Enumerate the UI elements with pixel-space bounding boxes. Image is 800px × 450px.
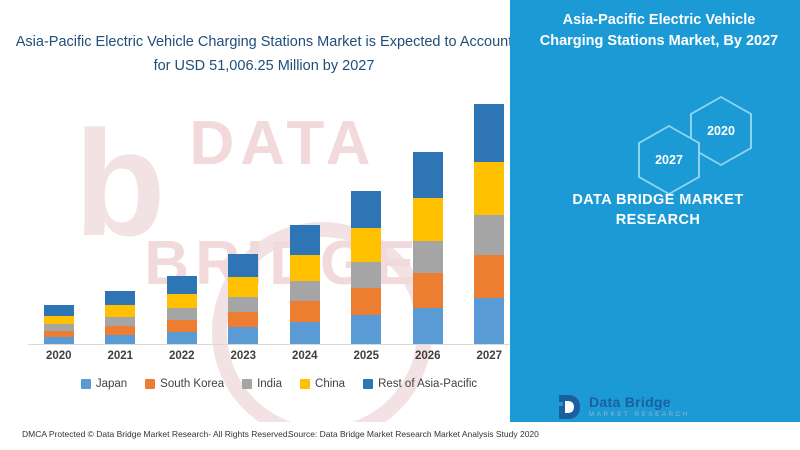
bar-segment — [290, 225, 320, 255]
bar-segment — [474, 298, 504, 344]
bar-segment — [290, 322, 320, 344]
bar-column — [351, 191, 381, 344]
legend-item[interactable]: China — [300, 378, 345, 390]
bar-segment — [413, 308, 443, 344]
hexagon-2020-label: 2020 — [690, 124, 752, 138]
x-axis-label: 2021 — [90, 350, 150, 362]
chart-infographic: b DATA BRIDGE Asia-Pacific Electric Vehi… — [0, 0, 800, 450]
side-panel: Asia-Pacific Electric Vehicle Charging S… — [510, 0, 800, 422]
bar-segment — [167, 320, 197, 332]
legend-label: Rest of Asia-Pacific — [378, 378, 477, 390]
brand-mark-icon — [556, 393, 582, 421]
legend-swatch — [242, 379, 252, 389]
legend-item[interactable]: South Korea — [145, 378, 224, 390]
bar-column — [167, 276, 197, 344]
plot-area — [28, 104, 520, 344]
legend-swatch — [363, 379, 373, 389]
chart-legend: JapanSouth KoreaIndiaChinaRest of Asia-P… — [34, 378, 524, 390]
brand-logo-text: Data Bridge MARKET RESEARCH — [589, 395, 690, 419]
bar-segment — [44, 316, 74, 324]
legend-swatch — [300, 379, 310, 389]
bar-segment — [105, 305, 135, 317]
footer: DMCA Protected © Data Bridge Market Rese… — [0, 422, 800, 450]
bar-segment — [167, 276, 197, 293]
legend-swatch — [81, 379, 91, 389]
x-axis-label: 2026 — [398, 350, 458, 362]
bar-segment — [474, 215, 504, 256]
bar-column — [105, 291, 135, 344]
bar-column — [474, 104, 504, 344]
bar-column — [44, 305, 74, 344]
bar-segment — [167, 332, 197, 344]
panel-title: Asia-Pacific Electric Vehicle Charging S… — [534, 10, 784, 52]
legend-swatch — [145, 379, 155, 389]
bar-segment — [105, 335, 135, 344]
bar-segment — [105, 326, 135, 335]
bar-segment — [290, 301, 320, 322]
bar-segment — [44, 331, 74, 338]
bar-column — [290, 225, 320, 344]
bar-segment — [474, 162, 504, 215]
x-axis-label: 2022 — [152, 350, 212, 362]
x-axis-label: 2020 — [29, 350, 89, 362]
bar-segment — [44, 324, 74, 331]
bar-segment — [413, 152, 443, 198]
x-axis-label: 2024 — [275, 350, 335, 362]
legend-item[interactable]: India — [242, 378, 282, 390]
bar-segment — [228, 327, 258, 344]
bar-segment — [351, 191, 381, 228]
bar-segment — [474, 104, 504, 162]
bar-segment — [105, 317, 135, 326]
legend-item[interactable]: Rest of Asia-Pacific — [363, 378, 477, 390]
bar-segment — [44, 305, 74, 316]
bar-segment — [228, 254, 258, 277]
bar-segment — [413, 273, 443, 308]
legend-label: Japan — [96, 378, 127, 390]
bar-segment — [413, 241, 443, 273]
chart-title: Asia-Pacific Electric Vehicle Charging S… — [14, 30, 514, 78]
bar-segment — [105, 291, 135, 305]
bar-segment — [413, 198, 443, 240]
bar-segment — [351, 262, 381, 288]
panel-brand-line1: DATA BRIDGE MARKET — [530, 192, 786, 208]
legend-item[interactable]: Japan — [81, 378, 127, 390]
panel-brand-line2: RESEARCH — [530, 212, 786, 228]
footer-source: Source: Data Bridge Market Research Mark… — [288, 429, 539, 439]
x-axis-label: 2023 — [213, 350, 273, 362]
legend-label: China — [315, 378, 345, 390]
bar-segment — [351, 315, 381, 344]
bar-segment — [351, 228, 381, 262]
legend-label: India — [257, 378, 282, 390]
bar-column — [228, 254, 258, 344]
bar-segment — [290, 281, 320, 301]
x-axis-label: 2025 — [336, 350, 396, 362]
bar-segment — [167, 294, 197, 309]
brand-logo-name: Data Bridge — [589, 395, 690, 410]
hexagon-2027-label: 2027 — [638, 153, 700, 167]
bar-segment — [290, 255, 320, 281]
footer-copyright: DMCA Protected © Data Bridge Market Rese… — [22, 429, 290, 439]
bar-segment — [228, 312, 258, 328]
bar-segment — [351, 288, 381, 315]
legend-label: South Korea — [160, 378, 224, 390]
x-axis-line — [28, 344, 520, 345]
brand-logo: Data Bridge MARKET RESEARCH — [556, 392, 690, 422]
bar-segment — [474, 255, 504, 298]
bar-column — [413, 152, 443, 344]
bar-segment — [228, 277, 258, 297]
x-axis-label: 2027 — [459, 350, 519, 362]
bar-segment — [167, 308, 197, 320]
bar-segment — [44, 337, 74, 344]
brand-logo-sub: MARKET RESEARCH — [589, 410, 690, 419]
bar-segment — [228, 297, 258, 312]
